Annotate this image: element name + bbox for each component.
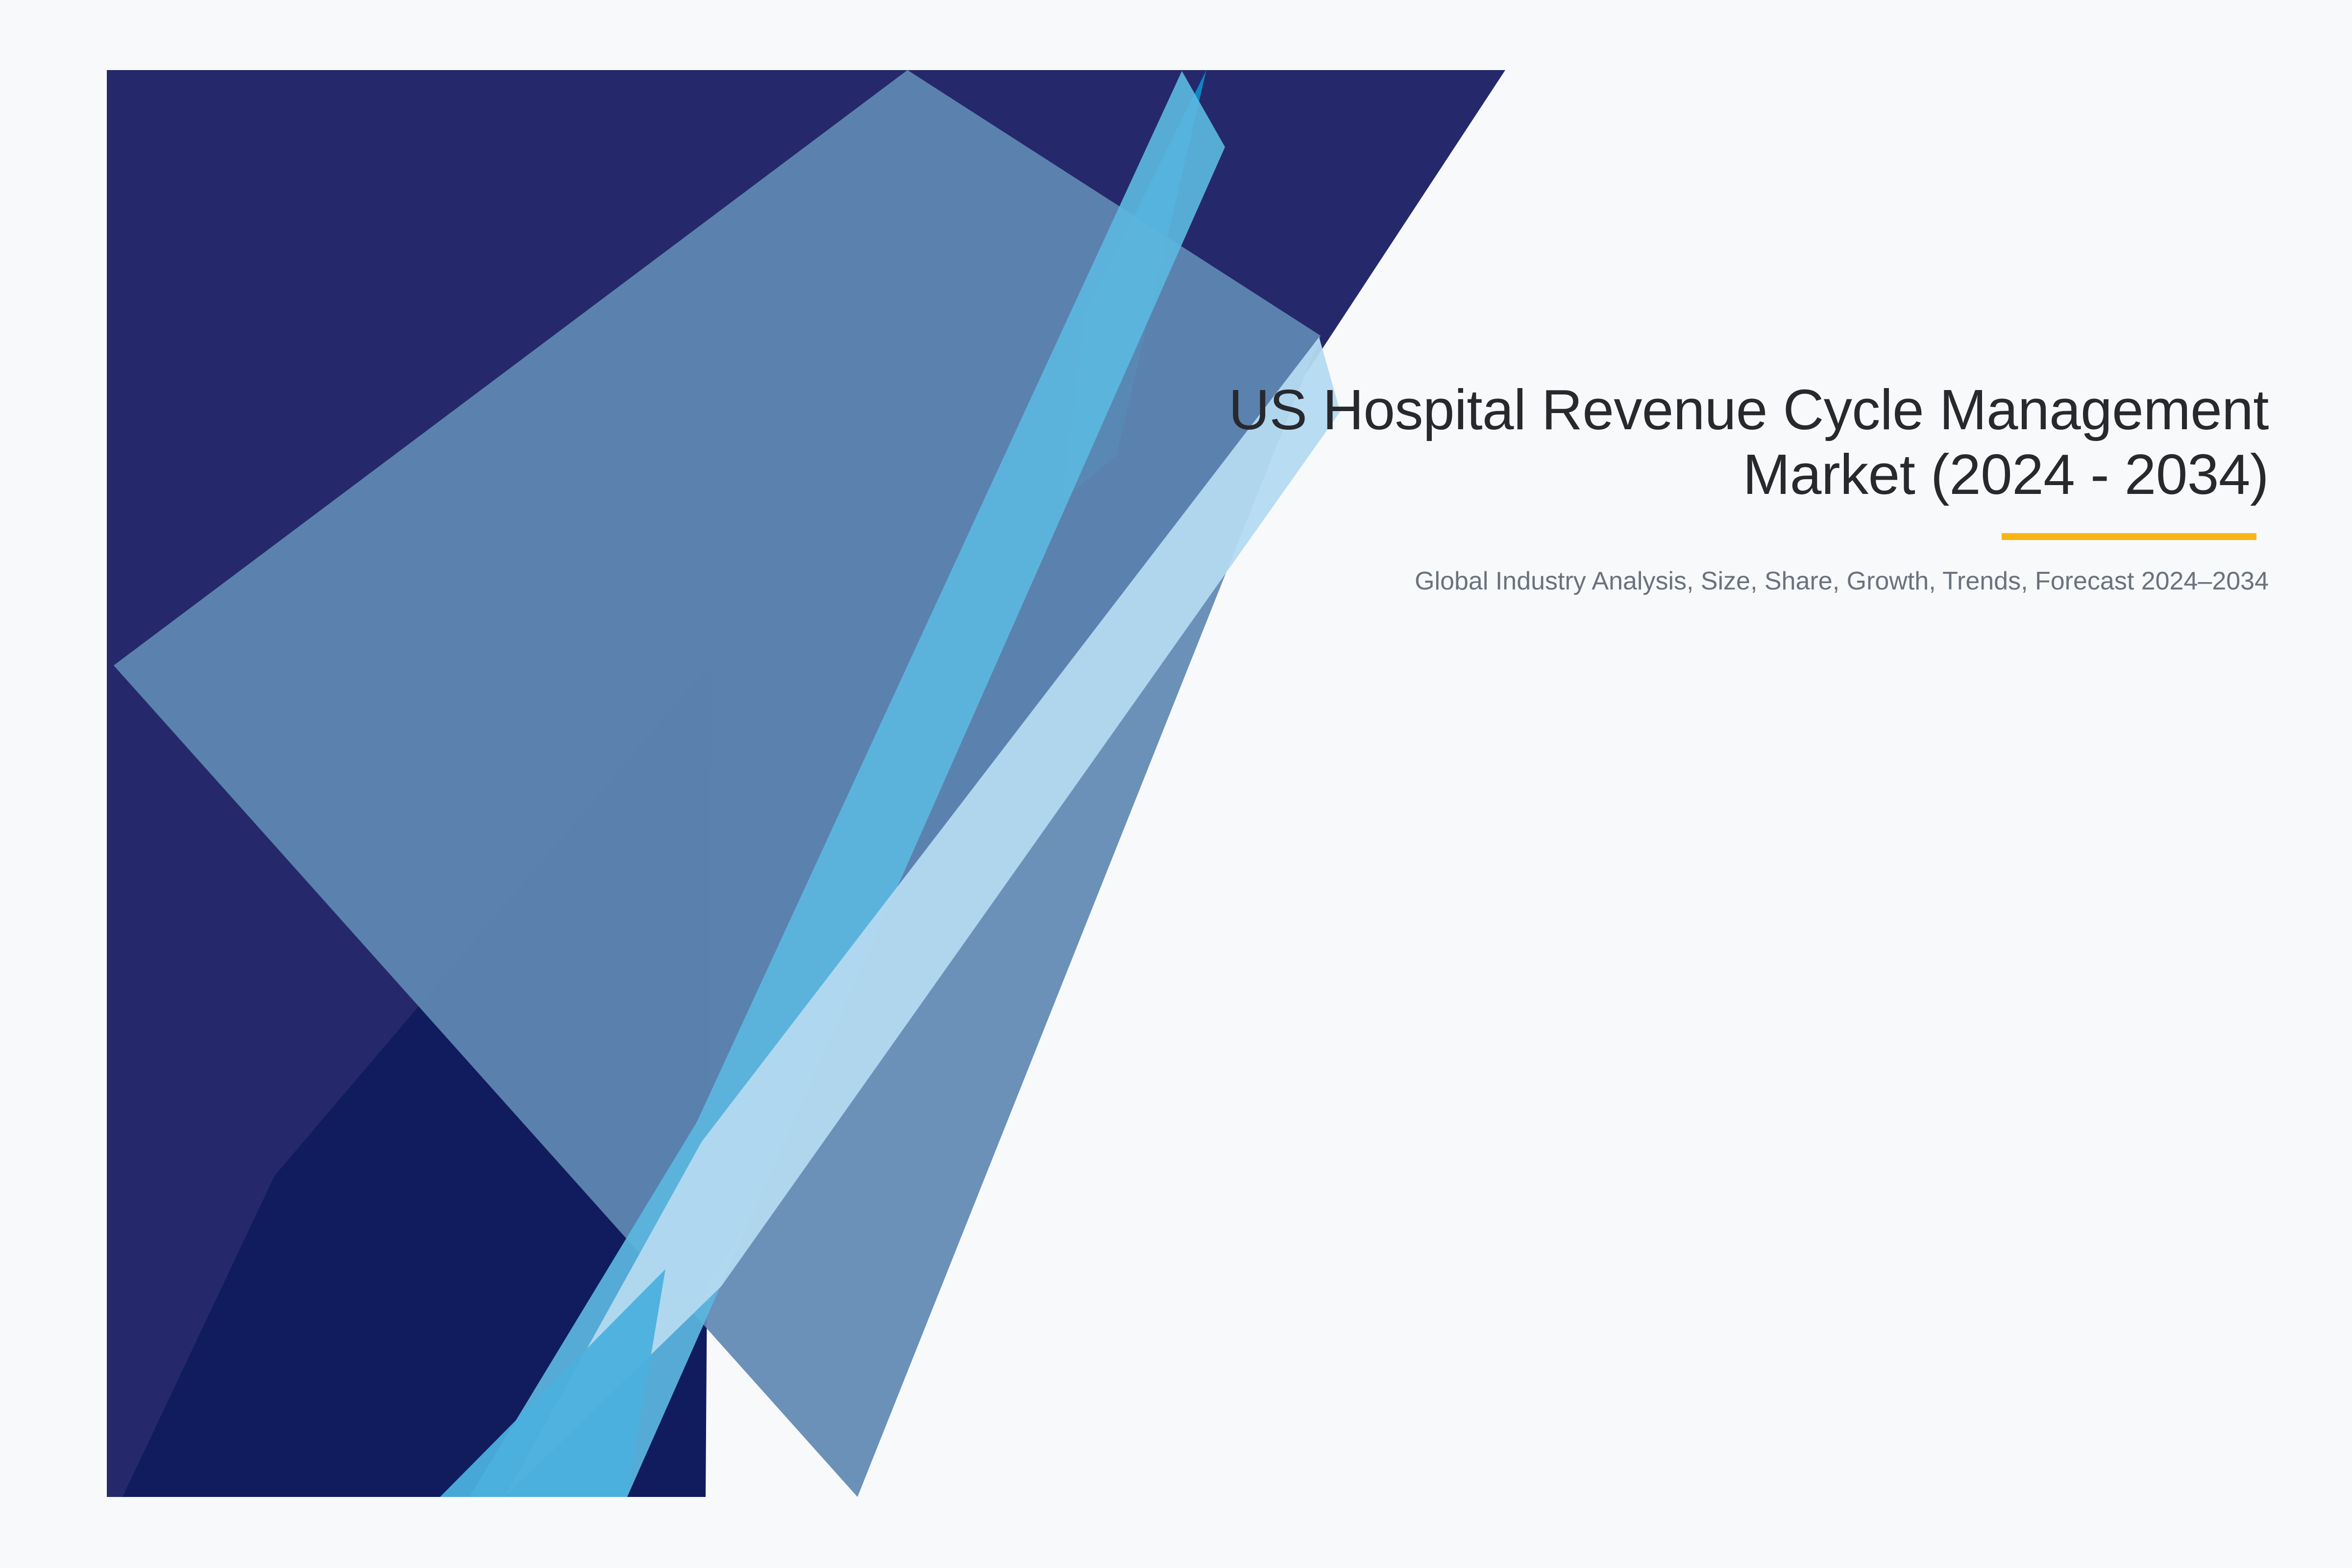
title-accent-underline (2002, 533, 2256, 540)
abstract-geometric-cover-graphic (0, 0, 2352, 1568)
cover-page: US Hospital Revenue Cycle Management Mar… (0, 0, 2352, 1568)
page-title: US Hospital Revenue Cycle Management Mar… (1200, 377, 2269, 507)
page-subtitle: Global Industry Analysis, Size, Share, G… (1200, 564, 2269, 598)
cover-text-block: US Hospital Revenue Cycle Management Mar… (1200, 377, 2269, 598)
title-wrapper: US Hospital Revenue Cycle Management Mar… (1200, 377, 2269, 507)
